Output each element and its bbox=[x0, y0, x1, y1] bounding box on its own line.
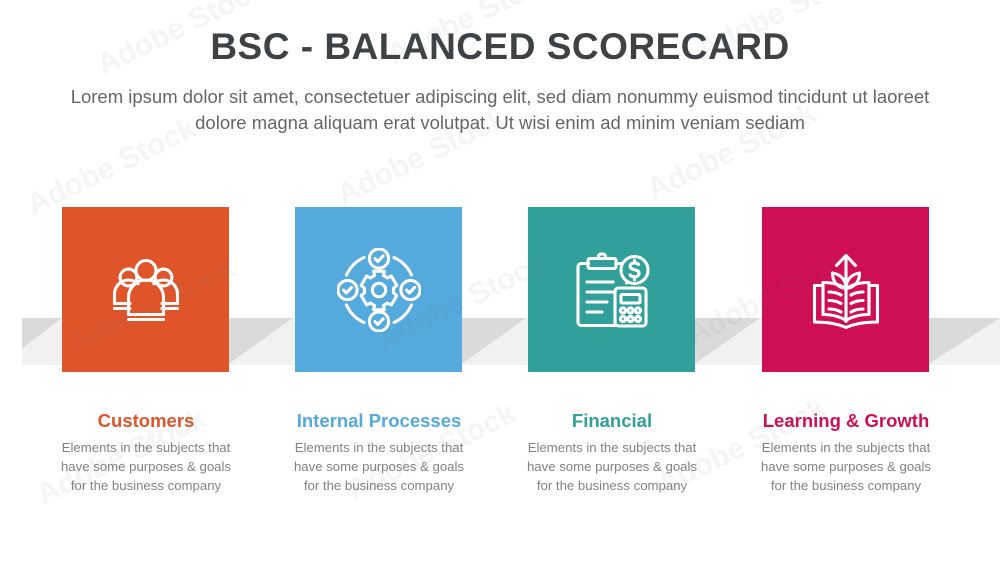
card-description-learning-growth: Elements in the subjects that have some … bbox=[721, 438, 971, 495]
ribbon-arrow-wedge bbox=[927, 318, 1000, 365]
card-description-internal-processes: Elements in the subjects that have some … bbox=[254, 438, 504, 495]
card-label-internal-processes: Internal Processes bbox=[254, 410, 504, 432]
icon-tile-financial[interactable] bbox=[528, 207, 695, 372]
icon-tile-customers[interactable] bbox=[62, 207, 229, 372]
ribbon-arrow-wedge bbox=[460, 318, 526, 365]
card-description-financial: Elements in the subjects that have some … bbox=[487, 438, 737, 495]
card-financial[interactable]: Financial Elements in the subjects that … bbox=[528, 207, 695, 372]
ribbon-arrow-wedge bbox=[227, 318, 293, 365]
book-plant-arrow-icon bbox=[805, 250, 887, 330]
ribbon-arrow-wedge bbox=[693, 318, 760, 365]
card-label-learning-growth: Learning & Growth bbox=[721, 410, 971, 432]
icon-tile-internal-processes[interactable] bbox=[295, 207, 462, 372]
card-internal-processes[interactable]: Internal Processes Elements in the subje… bbox=[295, 207, 462, 372]
gear-checkmarks-icon bbox=[337, 248, 421, 332]
card-learning-growth[interactable]: Learning & Growth Elements in the subjec… bbox=[762, 207, 929, 372]
card-customers[interactable]: Customers Elements in the subjects that … bbox=[62, 207, 229, 372]
clipboard-calculator-dollar-icon bbox=[572, 252, 652, 328]
page-title: BSC - BALANCED SCORECARD bbox=[0, 26, 1000, 68]
stock-watermark-strip: Adobe Stock | #587575249 bbox=[0, 0, 22, 563]
page-subtitle: Lorem ipsum dolor sit amet, consectetuer… bbox=[60, 84, 940, 136]
card-label-financial: Financial bbox=[487, 410, 737, 432]
card-description-customers: Elements in the subjects that have some … bbox=[21, 438, 271, 495]
icon-tile-learning-growth[interactable] bbox=[762, 207, 929, 372]
people-group-icon bbox=[106, 256, 186, 324]
card-label-customers: Customers bbox=[21, 410, 271, 432]
infographic-canvas: Adobe Stock Adobe Stock Adobe Stock Adob… bbox=[0, 0, 1000, 563]
